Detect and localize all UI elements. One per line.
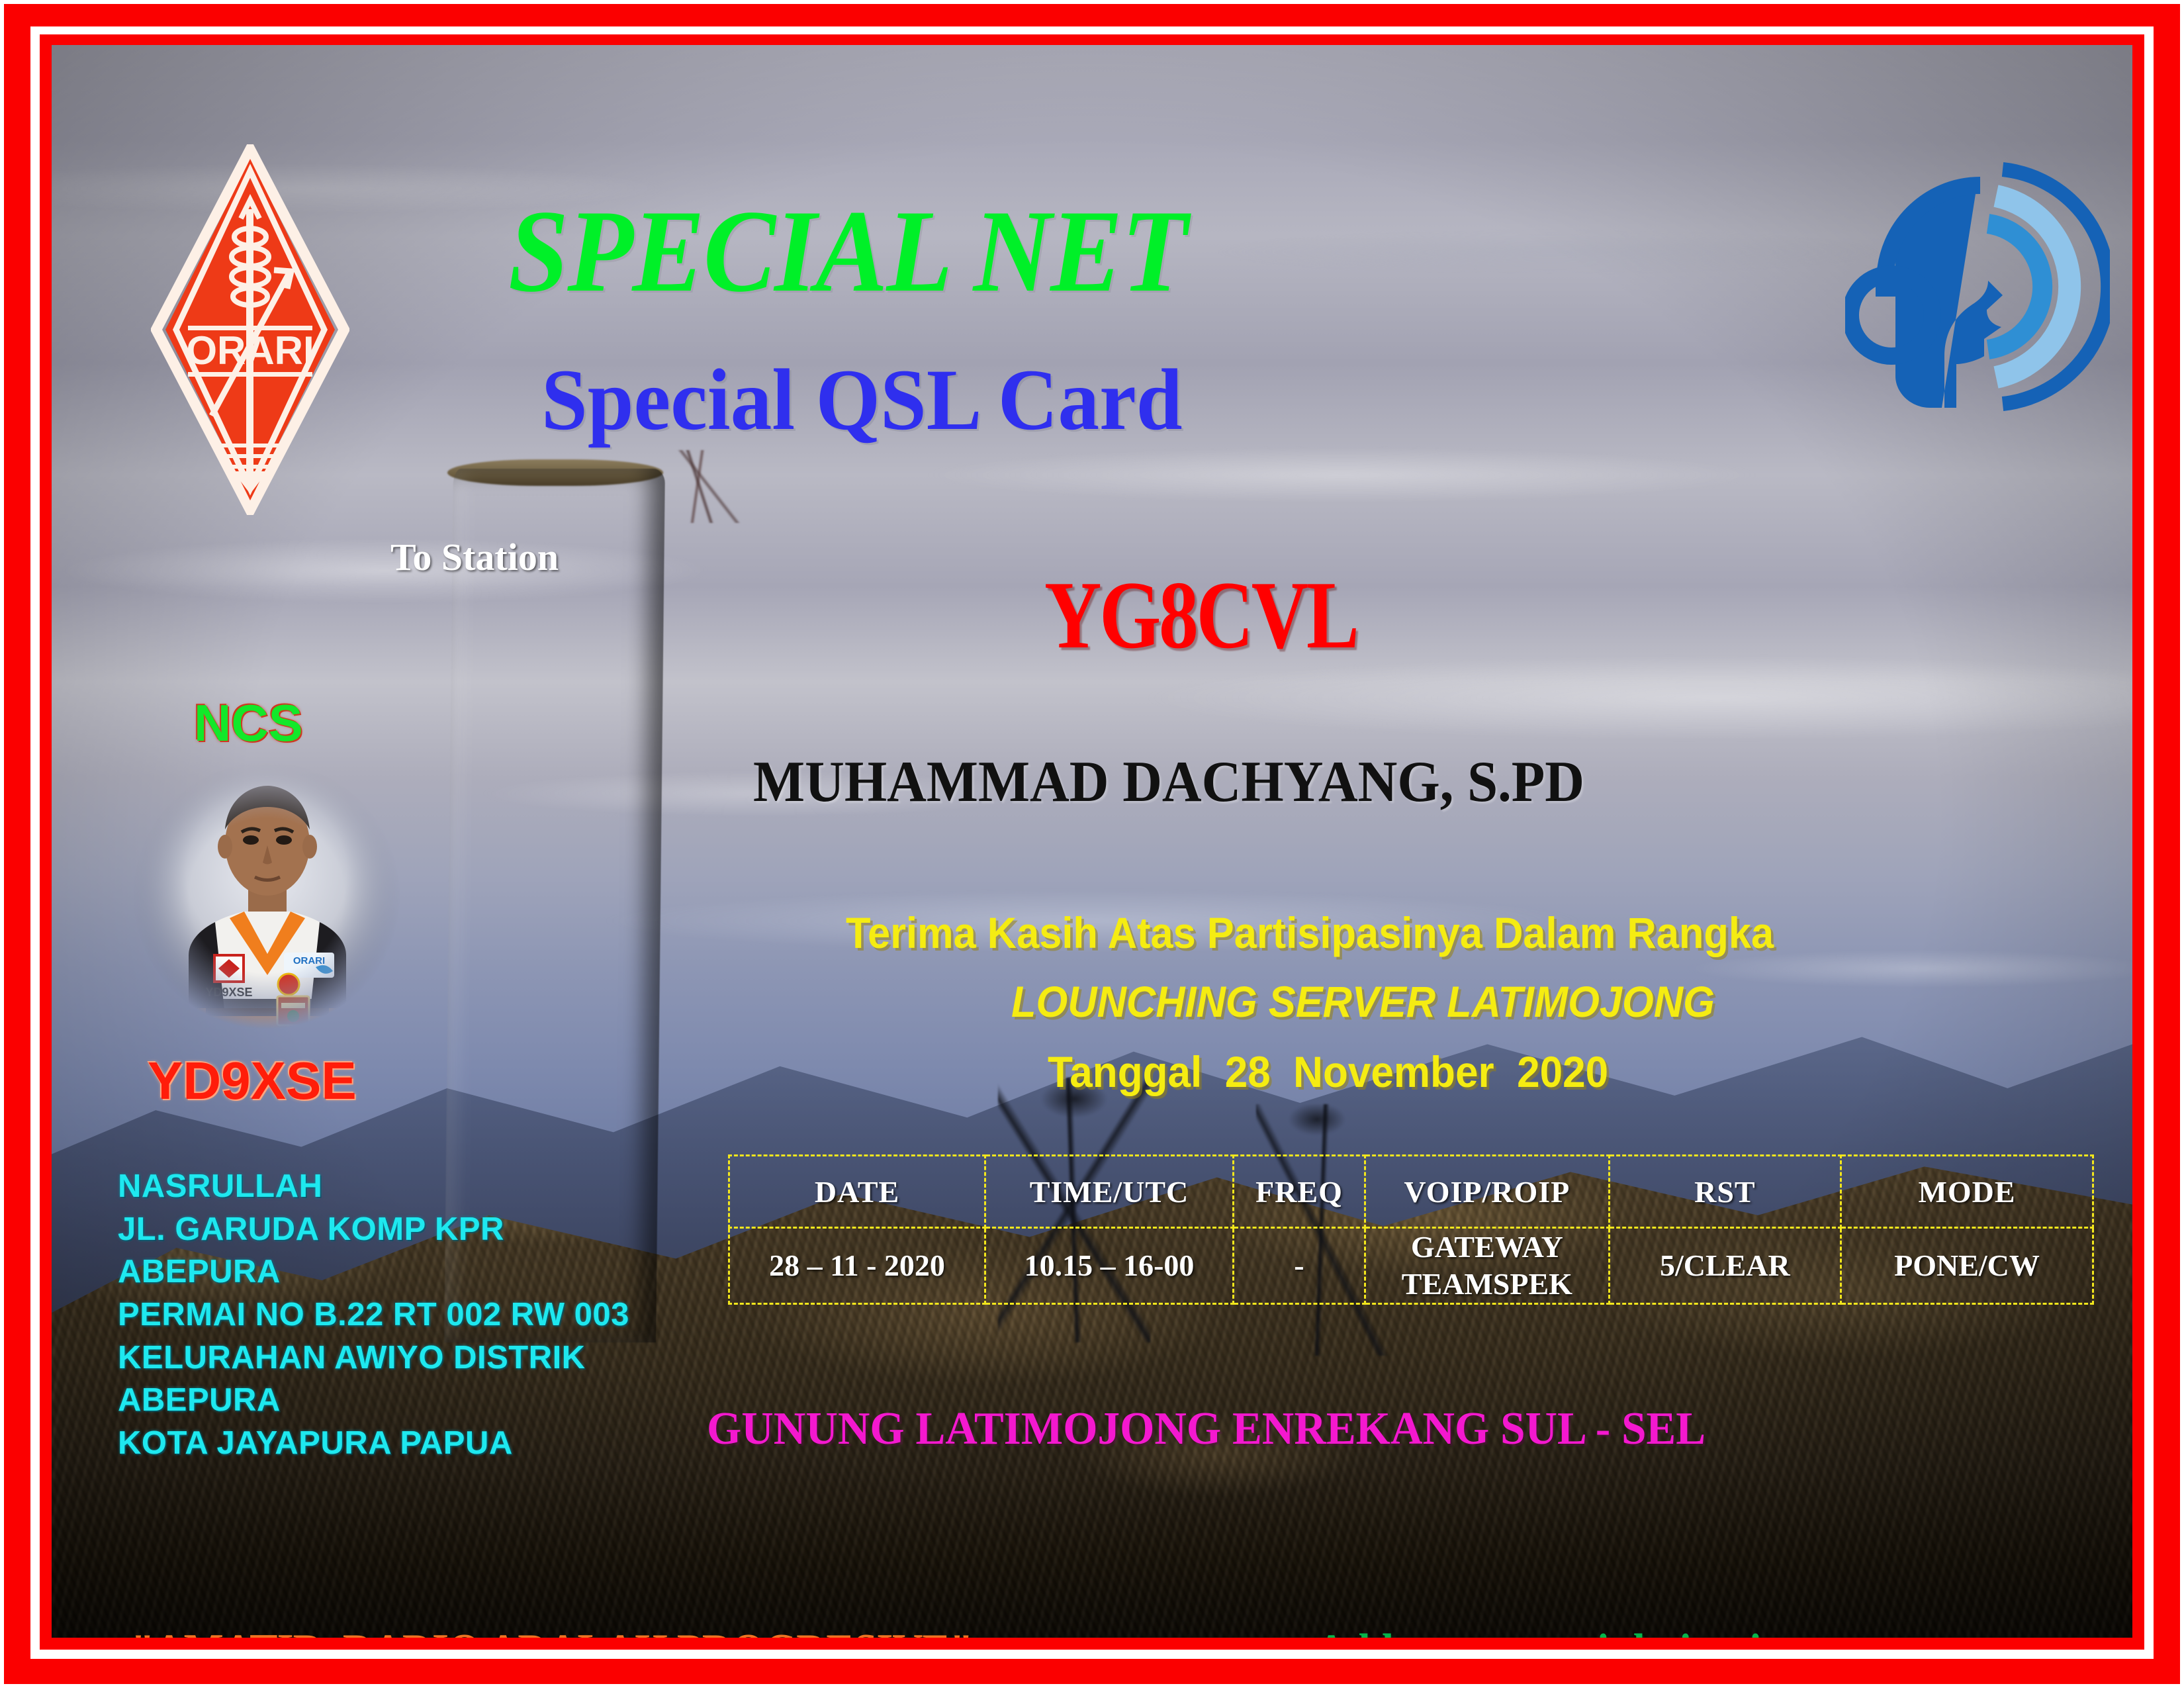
address-line: KELURAHAN AWIYO DISTRIK bbox=[118, 1336, 660, 1380]
qso-log-table: DATE TIME/UTC FREQ VOIP/ROIP RST MODE 28… bbox=[728, 1154, 2094, 1305]
special-net-logo bbox=[1845, 158, 2110, 416]
operator-photo: YD9XSE ORARI bbox=[128, 757, 406, 1035]
event-date-line: Tanggal 28 November 2020 bbox=[1048, 1050, 1608, 1094]
station-callsign: YG8CVL bbox=[1044, 567, 1357, 663]
cell-mode: PONE/CW bbox=[1841, 1228, 2093, 1304]
column-header-time: TIME/UTC bbox=[985, 1156, 1234, 1228]
column-header-voip: VOIP/ROIP bbox=[1365, 1156, 1610, 1228]
address-line: ABEPURA bbox=[118, 1250, 660, 1293]
mailing-address-block: NASRULLAH JL. GARUDA KOMP KPR ABEPURA PE… bbox=[118, 1165, 660, 1465]
operator-name: MUHAMMAD DACHYANG, S.PD bbox=[753, 753, 1584, 812]
column-header-rst: RST bbox=[1609, 1156, 1841, 1228]
footer-slogan: "AMATIR RADIO ADALAH PROGRESIVE" bbox=[131, 1627, 973, 1638]
qsl-card: ORARI bbox=[0, 0, 2184, 1688]
event-thanks-line: Terima Kasih Atas Partisipasinya Dalam R… bbox=[846, 911, 1774, 955]
shirt-callsign-text: YD9XSE bbox=[205, 986, 252, 999]
cell-voip: GATEWAYTEAMSPEK bbox=[1365, 1228, 1610, 1304]
column-header-mode: MODE bbox=[1841, 1156, 2093, 1228]
cell-time: 10.15 – 16-00 bbox=[985, 1228, 1234, 1304]
to-station-label: To Station bbox=[390, 538, 559, 577]
column-header-date: DATE bbox=[729, 1156, 985, 1228]
svg-text:ORARI: ORARI bbox=[293, 955, 325, 966]
address-line: ABEPURA bbox=[118, 1379, 660, 1422]
ncs-label: NCS bbox=[194, 697, 303, 749]
event-title-line: LOUNCHING SERVER LATIMOJONG bbox=[1011, 980, 1715, 1023]
portrait-figure: YD9XSE ORARI bbox=[128, 757, 406, 1035]
cell-rst: 5/CLEAR bbox=[1609, 1228, 1841, 1304]
page-title: SPECIAL NET bbox=[508, 192, 1187, 310]
table-row: 28 – 11 - 2020 10.15 – 16-00 - GATEWAYTE… bbox=[729, 1228, 2093, 1304]
table-header-row: DATE TIME/UTC FREQ VOIP/ROIP RST MODE bbox=[729, 1156, 2093, 1228]
location-caption: GUNUNG LATIMOJONG ENREKANG SUL - SEL bbox=[707, 1406, 1706, 1452]
address-line: NASRULLAH bbox=[118, 1165, 660, 1208]
page-subtitle: Special QSL Card bbox=[541, 356, 1183, 444]
address-line: JL. GARUDA KOMP KPR bbox=[118, 1208, 660, 1251]
address-line: KOTA JAYAPURA PAPUA bbox=[118, 1422, 660, 1465]
orari-logo: ORARI bbox=[151, 144, 349, 515]
address-line: PERMAI NO B.22 RT 002 RW 003 bbox=[118, 1293, 660, 1336]
card-photo-background: ORARI bbox=[52, 45, 2132, 1638]
cell-freq: - bbox=[1233, 1228, 1365, 1304]
footer-address: Address : amatir.latimojong.com bbox=[1316, 1627, 1911, 1638]
cell-date: 28 – 11 - 2020 bbox=[729, 1228, 985, 1304]
ncs-callsign: YD9XSE bbox=[148, 1055, 357, 1107]
orari-wordmark: ORARI bbox=[186, 328, 314, 373]
column-header-freq: FREQ bbox=[1233, 1156, 1365, 1228]
